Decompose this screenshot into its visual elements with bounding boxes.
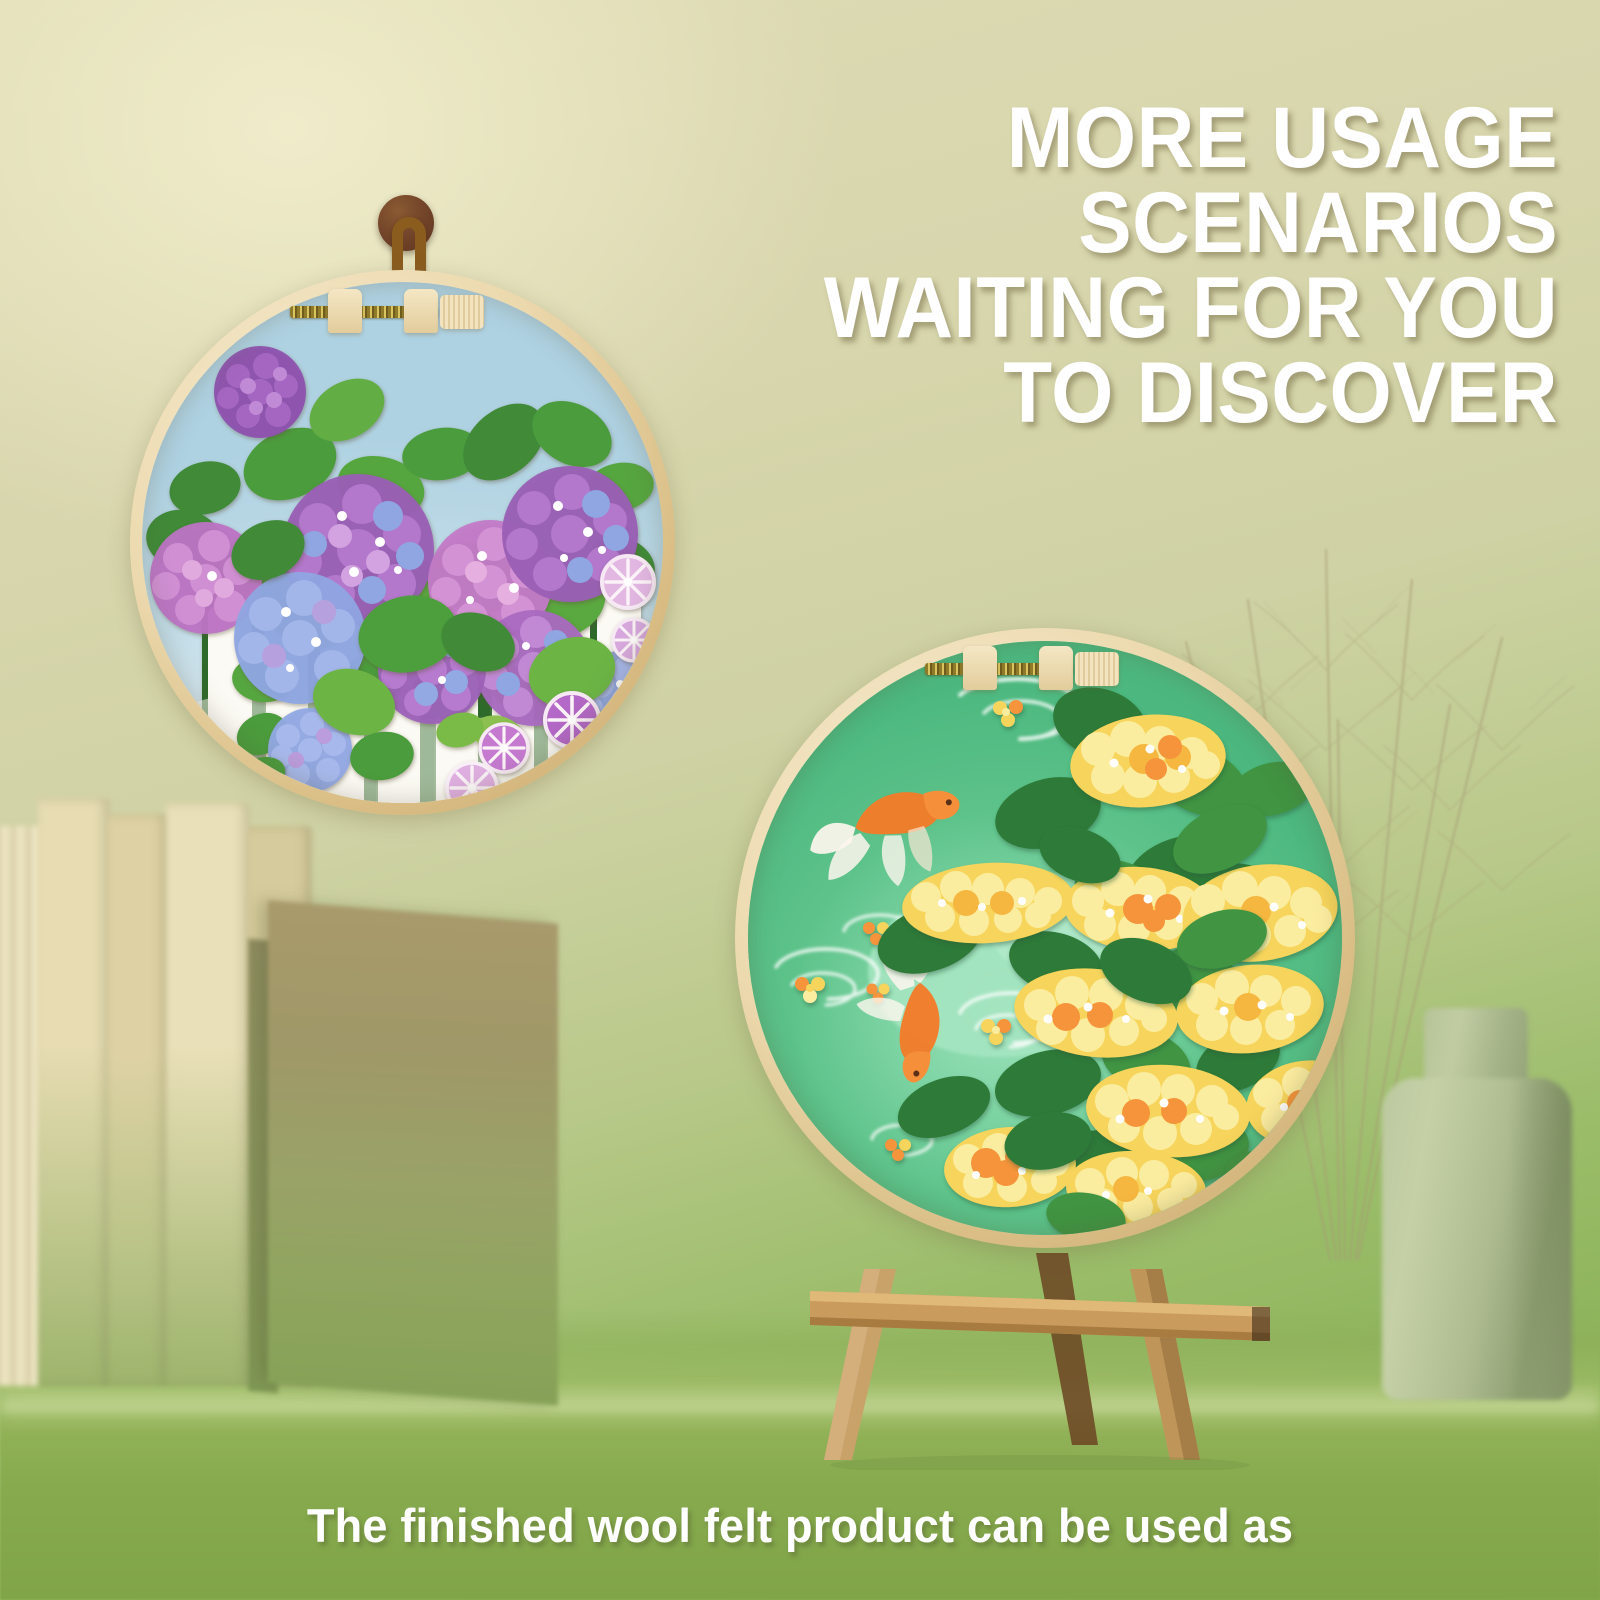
hoop-bracket-left xyxy=(963,646,997,690)
headline-line-1: MORE USAGE SCENARIOS xyxy=(516,96,1558,266)
leaning-board xyxy=(268,900,558,1405)
easel-rear-leg xyxy=(1036,1253,1098,1445)
felt-panel-pond xyxy=(748,641,1342,1235)
wooden-easel-stand[interactable] xyxy=(800,1245,1280,1470)
hoop-hardware[interactable] xyxy=(953,642,1163,694)
vase-shading xyxy=(1508,1078,1572,1400)
book-item xyxy=(166,802,250,1386)
caption: The finished wool felt product can be us… xyxy=(32,1440,1568,1600)
headline: MORE USAGE SCENARIOS WAITING FOR YOU TO … xyxy=(516,96,1558,437)
hoop-bracket-right xyxy=(404,289,438,333)
hoop-bracket-right xyxy=(1039,646,1073,690)
easel-hoop-artwork[interactable] xyxy=(735,570,1360,1330)
scene-stage: MORE USAGE SCENARIOS WAITING FOR YOU TO … xyxy=(0,0,1600,1600)
book-item xyxy=(38,798,110,1386)
hoop-bracket-left xyxy=(328,289,362,333)
headline-line-2: WAITING FOR YOU xyxy=(516,266,1558,351)
hoop-hardware[interactable] xyxy=(318,285,528,337)
headline-line-3: TO DISCOVER xyxy=(516,351,1558,436)
caption-line-1: The finished wool felt product can be us… xyxy=(32,1497,1568,1554)
book-item xyxy=(108,814,168,1386)
ceramic-vase xyxy=(1382,1008,1572,1400)
tightening-knob[interactable] xyxy=(440,295,484,329)
tightening-knob[interactable] xyxy=(1075,652,1119,686)
